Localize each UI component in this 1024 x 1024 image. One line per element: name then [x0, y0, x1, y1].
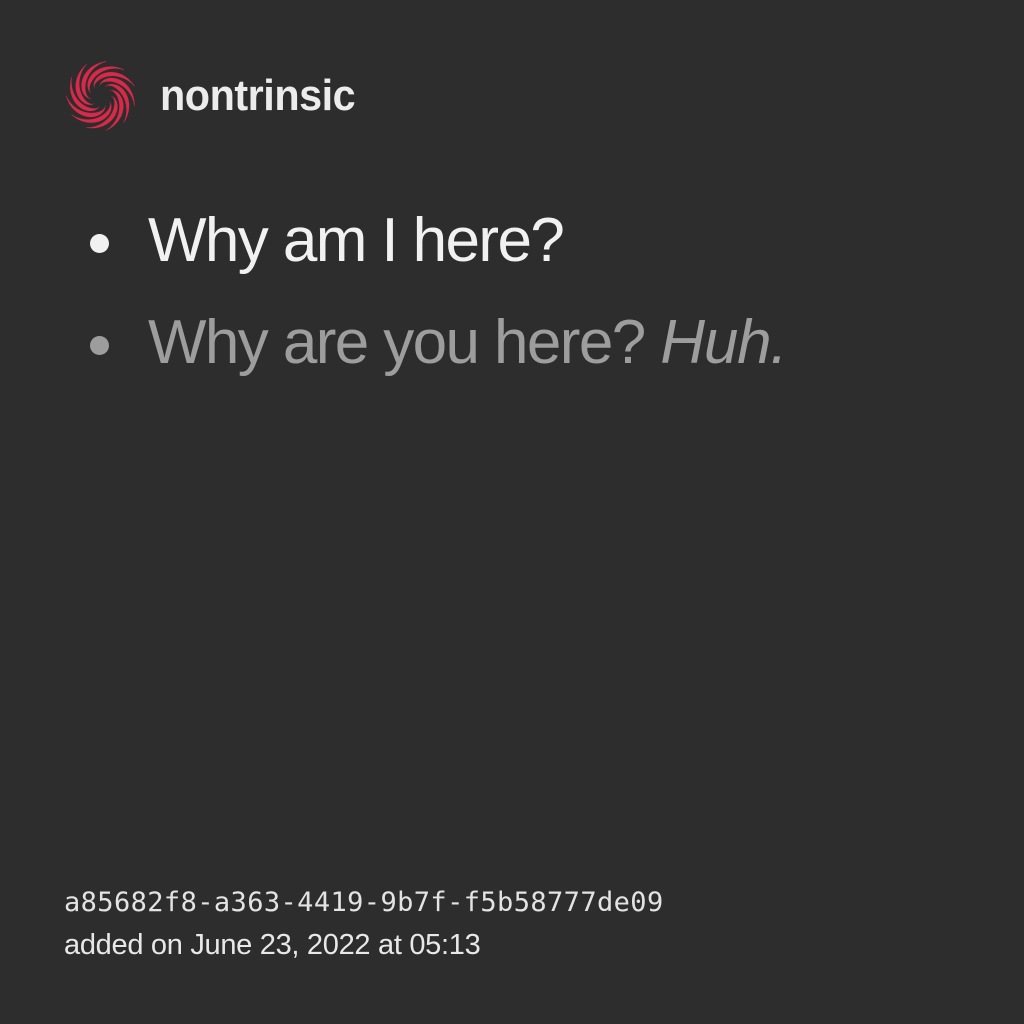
list-item: Why are you here? Huh.: [78, 298, 984, 388]
meta-footer: a85682f8-a363-4419-9b7f-f5b58777de09 add…: [64, 882, 664, 966]
list-item: Why am I here?: [78, 196, 984, 286]
quote-text: Why are you here?: [148, 308, 660, 377]
quote-card: nontrinsic Why am I here? Why are you he…: [0, 0, 1024, 1024]
record-id: a85682f8-a363-4419-9b7f-f5b58777de09: [64, 882, 664, 924]
added-timestamp: added on June 23, 2022 at 05:13: [64, 924, 664, 966]
quote-list: Why am I here? Why are you here? Huh.: [78, 196, 984, 400]
brand-name: nontrinsic: [160, 74, 355, 118]
quote-emphasis: Huh.: [660, 308, 786, 377]
quote-text: Why am I here?: [148, 206, 563, 275]
spiral-pinwheel-icon: [62, 57, 140, 135]
brand-header: nontrinsic: [62, 55, 368, 137]
